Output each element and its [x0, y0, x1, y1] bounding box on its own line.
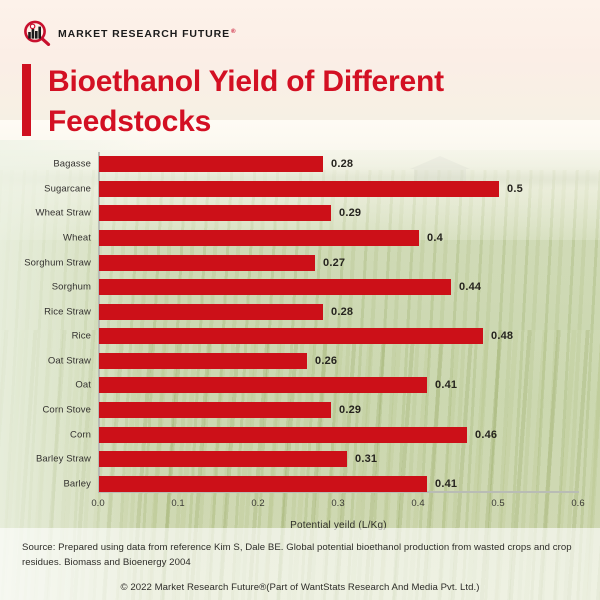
bar-value-label: 0.41: [435, 478, 457, 490]
magnifier-barchart-icon: [22, 20, 52, 46]
chart-bar: [99, 304, 323, 320]
chart-bar: [99, 402, 331, 418]
chart-bar: [99, 427, 467, 443]
title-line-2: Feedstocks: [48, 102, 444, 142]
category-label: Wheat Straw: [36, 208, 91, 219]
brand-name: MARKET RESEARCH FUTURE®: [58, 28, 236, 40]
category-label: Rice Straw: [44, 306, 91, 317]
chart-row: Rice0.48: [98, 324, 578, 349]
category-label: Sorghum Straw: [24, 257, 91, 268]
brand-name-text: MARKET RESEARCH FUTURE: [58, 28, 230, 40]
chart-bar: [99, 476, 427, 492]
footer: Source: Prepared using data from referen…: [0, 528, 600, 600]
chart-bar: [99, 328, 483, 344]
bar-value-label: 0.4: [427, 232, 443, 244]
bar-value-label: 0.26: [315, 355, 337, 367]
x-tick-label: 0.3: [331, 498, 344, 509]
title-accent-bar: [22, 64, 31, 136]
chart-row: Oat0.41: [98, 373, 578, 398]
category-label: Bagasse: [53, 159, 91, 170]
chart-row: Wheat Straw0.29: [98, 201, 578, 226]
bar-value-label: 0.48: [491, 330, 513, 342]
copyright-note: © 2022 Market Research Future®(Part of W…: [0, 582, 600, 593]
category-label: Corn: [70, 429, 91, 440]
x-tick-label: 0.1: [171, 498, 184, 509]
chart-row: Sorghum Straw0.27: [98, 250, 578, 275]
chart-bar: [99, 230, 419, 246]
chart-row: Corn0.46: [98, 422, 578, 447]
chart-row: Oat Straw0.26: [98, 349, 578, 374]
category-label: Sugarcane: [44, 183, 91, 194]
chart-bar: [99, 451, 347, 467]
bar-value-label: 0.31: [355, 453, 377, 465]
category-label: Sorghum: [52, 282, 91, 293]
bar-value-label: 0.5: [507, 183, 523, 195]
chart-bar: [99, 377, 427, 393]
category-label: Rice: [72, 331, 91, 342]
bar-value-label: 0.44: [459, 281, 481, 293]
chart-row: Barley0.41: [98, 471, 578, 496]
registered-mark: ®: [231, 29, 236, 35]
chart-row: Bagasse0.28: [98, 152, 578, 177]
page-title: Bioethanol Yield of Different Feedstocks: [22, 62, 542, 142]
title-text: Bioethanol Yield of Different Feedstocks: [48, 62, 444, 142]
chart-bar: [99, 353, 307, 369]
category-label: Oat: [75, 380, 91, 391]
chart-bar: [99, 181, 499, 197]
x-tick-label: 0.6: [571, 498, 584, 509]
x-tick-label: 0.2: [251, 498, 264, 509]
x-tick-label: 0.0: [91, 498, 104, 509]
category-label: Corn Stove: [42, 404, 91, 415]
bar-value-label: 0.27: [323, 257, 345, 269]
chart-bar: [99, 156, 323, 172]
bar-value-label: 0.28: [331, 158, 353, 170]
chart-bar: [99, 279, 451, 295]
chart-bar: [99, 255, 315, 271]
plot-area: Bagasse0.28Sugarcane0.5Wheat Straw0.29Wh…: [98, 152, 578, 496]
category-label: Oat Straw: [48, 355, 91, 366]
chart-row: Sugarcane0.5: [98, 177, 578, 202]
chart-row: Corn Stove0.29: [98, 398, 578, 423]
bar-chart: Bagasse0.28Sugarcane0.5Wheat Straw0.29Wh…: [0, 146, 600, 496]
infographic-poster: MARKET RESEARCH FUTURE® Bioethanol Yield…: [0, 0, 600, 600]
bar-value-label: 0.29: [339, 207, 361, 219]
chart-row: Wheat0.4: [98, 226, 578, 251]
chart-bar: [99, 205, 331, 221]
chart-row: Sorghum0.44: [98, 275, 578, 300]
bar-value-label: 0.41: [435, 379, 457, 391]
brand-logo: MARKET RESEARCH FUTURE®: [22, 19, 236, 47]
chart-row: Rice Straw0.28: [98, 299, 578, 324]
x-tick-label: 0.5: [491, 498, 504, 509]
bar-value-label: 0.29: [339, 404, 361, 416]
title-line-1: Bioethanol Yield of Different: [48, 62, 444, 102]
category-label: Barley Straw: [36, 454, 91, 465]
chart-row: Barley Straw0.31: [98, 447, 578, 472]
x-tick-label: 0.4: [411, 498, 424, 509]
source-note: Source: Prepared using data from referen…: [22, 540, 578, 570]
category-label: Wheat: [63, 232, 91, 243]
bar-value-label: 0.28: [331, 306, 353, 318]
bar-value-label: 0.46: [475, 429, 497, 441]
category-label: Barley: [63, 478, 91, 489]
